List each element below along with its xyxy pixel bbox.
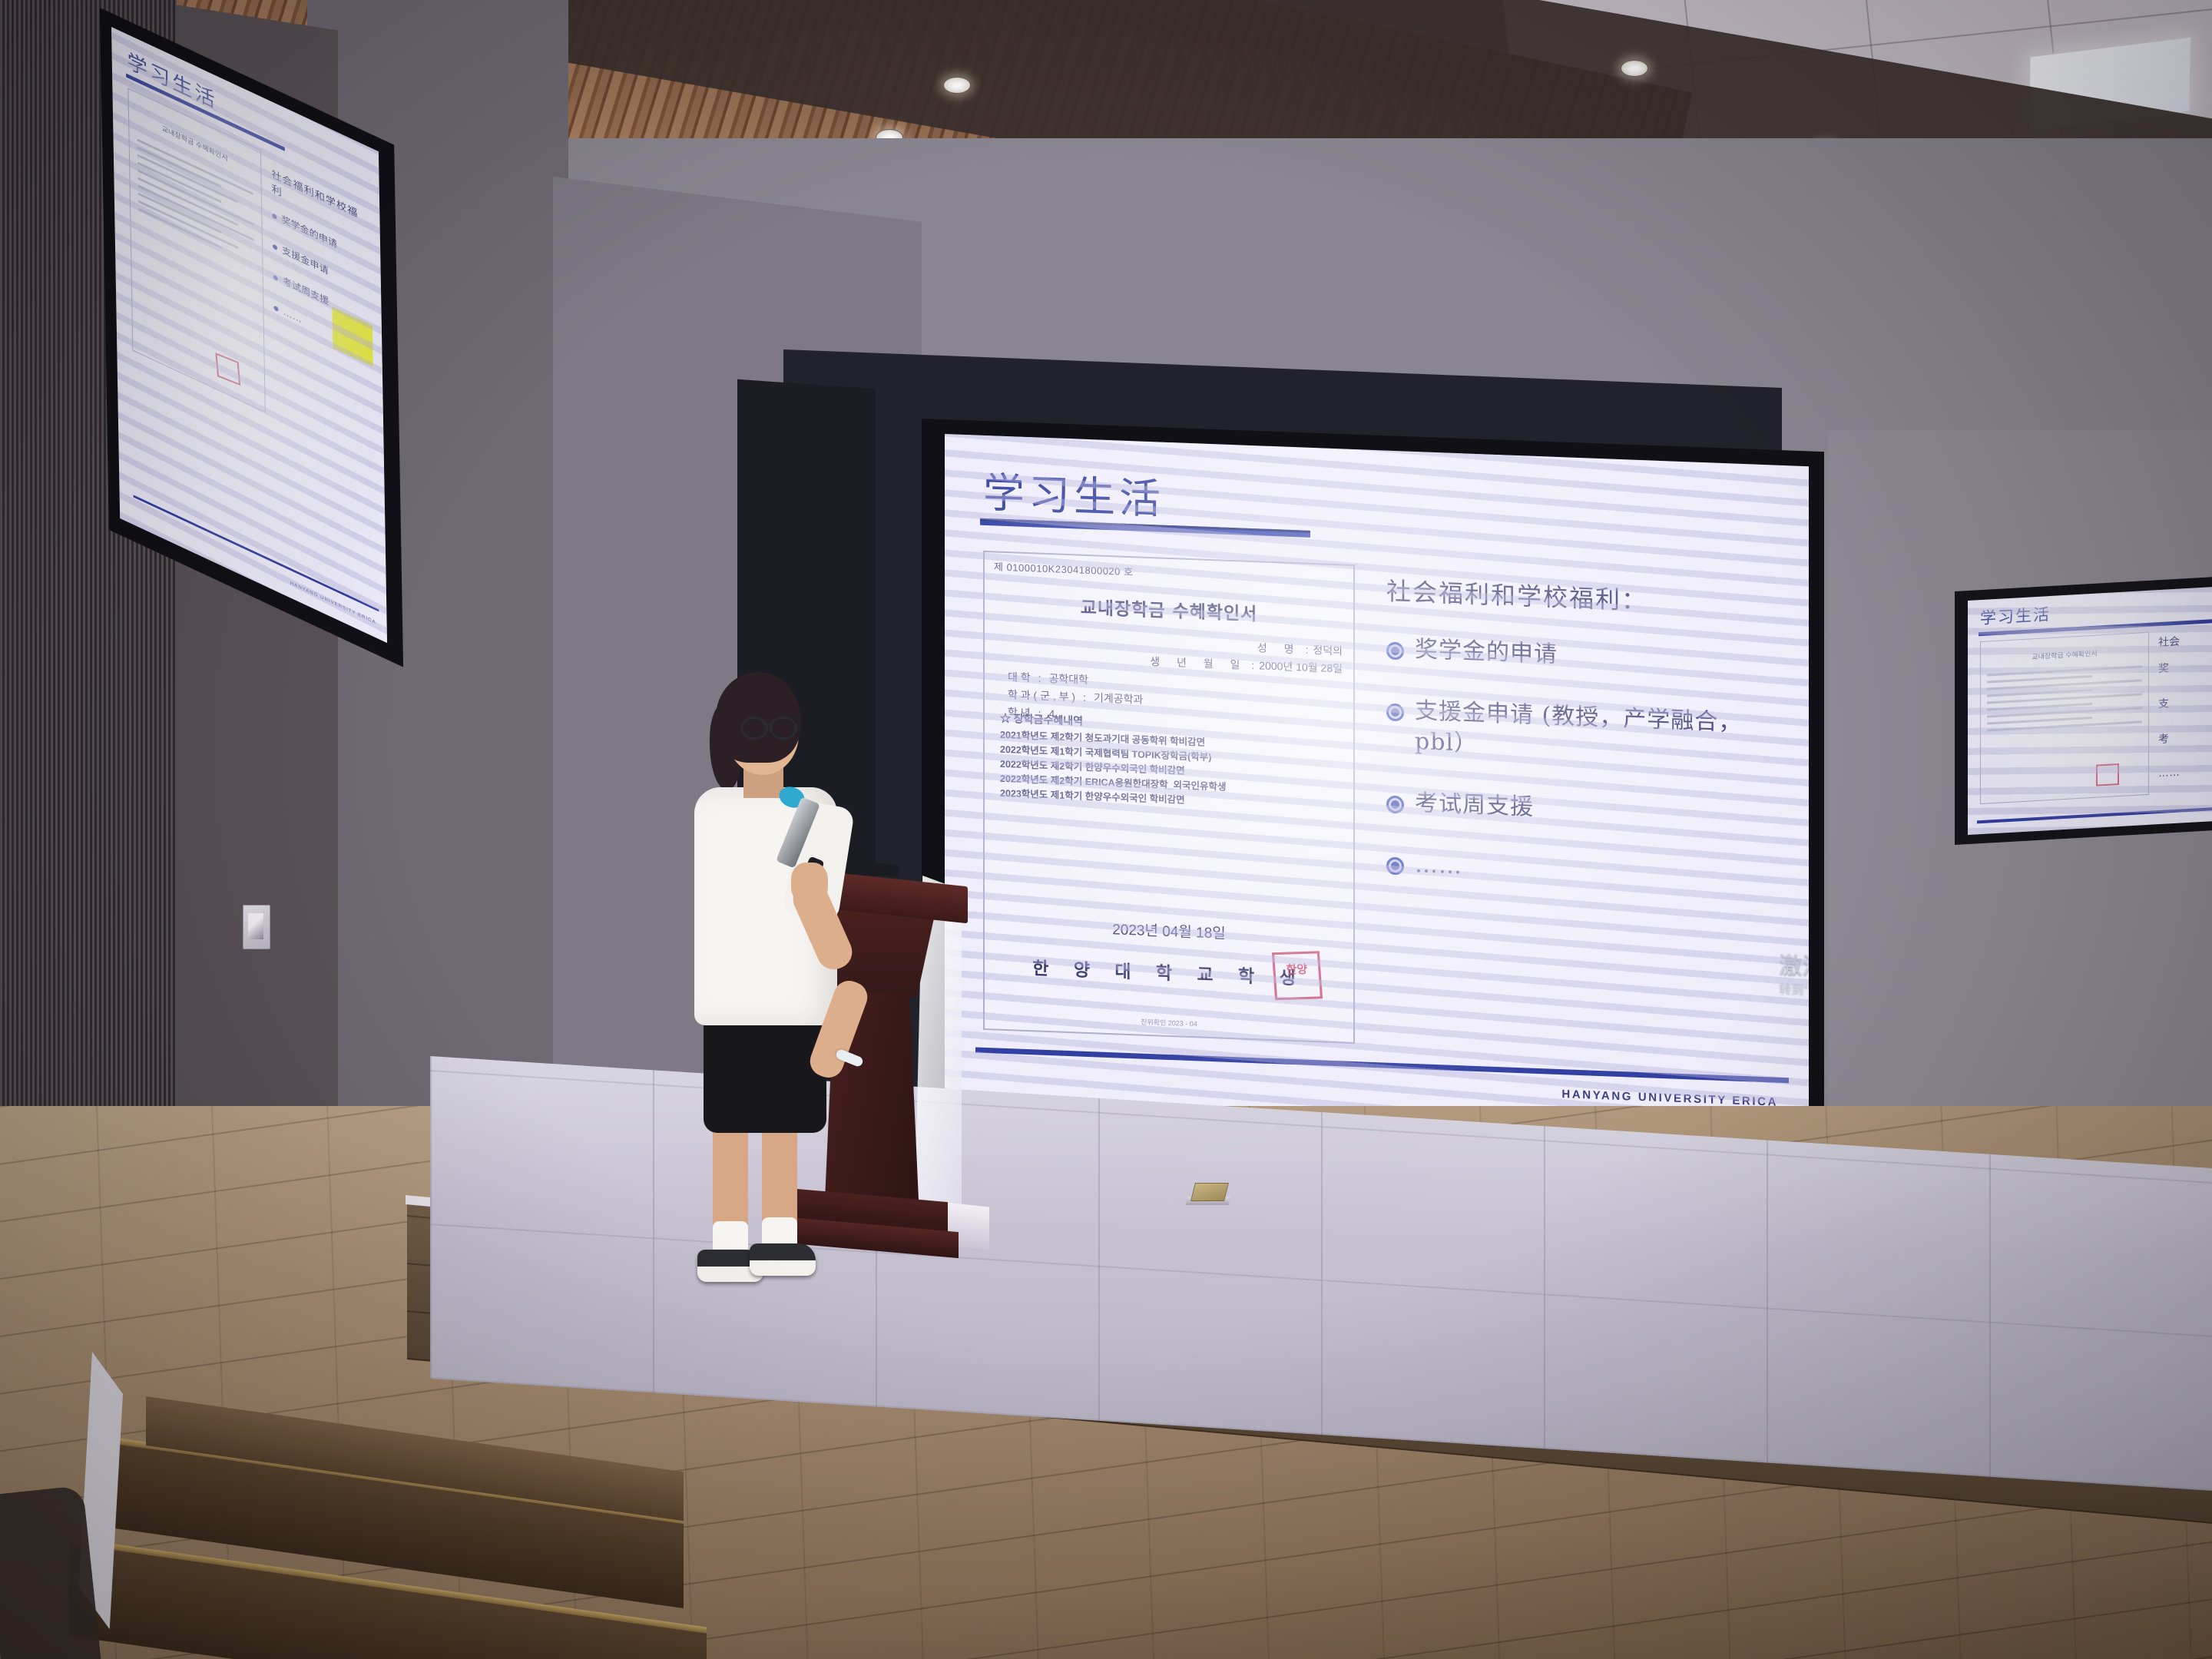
right-bullet-item: …… (2158, 763, 2212, 779)
bullet-dot-icon (1386, 642, 1404, 661)
doc-field-sep: : (1038, 670, 1041, 687)
lecture-hall-scene: 学习生活 교내장학금 수혜확인서 社会福利和学校福利 奖学金的申请 支援金申请 … (0, 0, 2212, 1659)
main-slide-title: 学习生活 (983, 459, 1164, 526)
bullet-item: 支援金申请 (教授，产学融合，pbl） (1386, 695, 1770, 771)
right-slide-title: 学习生活 (1980, 602, 2051, 629)
right-bullet-item: 考 (2158, 727, 2212, 747)
bullet-dot-icon (1386, 796, 1404, 814)
right-bullet-item: 奖 (2158, 657, 2212, 676)
main-display-screen[interactable]: 学习生活 제 0100010K23041800020 호 교내장학금 수혜확인서… (945, 434, 1809, 1128)
glasses-lens-right (770, 717, 797, 740)
right-bullet-list: 社会 奖 支 考 …… (2158, 631, 2212, 799)
glasses-icon (740, 717, 799, 735)
right-bullet-item: 支 (2158, 692, 2212, 711)
windows-activation-watermark: 激活 Windows 转到"设置"以激活 Windows。 (1779, 954, 1809, 1003)
ceiling-downlight-icon (1621, 60, 1648, 77)
right-footer-rule (1977, 807, 2212, 823)
doc-field-label: 성 명 (1257, 639, 1301, 658)
presenter-shoe-right (750, 1243, 816, 1276)
official-seal-icon: 한양 (1272, 951, 1323, 1000)
slide-footer-rule (975, 1048, 1789, 1084)
doc-award-list: 2021학년도 제2학기 청도과기대 공동학위 학비감면 2022학년도 제1학… (1000, 728, 1227, 810)
bullet-item: 考试周支援 (1386, 787, 1770, 833)
bullet-text: 支援金申请 (教授，产学融合，pbl） (1415, 696, 1770, 770)
presenter (676, 657, 906, 1240)
main-slide: 学习生活 제 0100010K23041800020 호 교내장학금 수혜확인서… (945, 434, 1809, 1128)
doc-field-label: 생 년 월 일 (1150, 653, 1247, 674)
bullet-text: …… (1415, 849, 1462, 882)
right-doc-title: 교내장학금 수혜확인서 (1981, 645, 2148, 664)
wall-outlet-icon[interactable] (243, 905, 270, 949)
right-doc-lines (1987, 665, 2142, 736)
doc-field-value: 공학대학 (1049, 670, 1089, 689)
doc-field-label: 대 학 (1008, 668, 1031, 687)
right-doc-box: 교내장학금 수혜확인서 (1980, 632, 2149, 804)
scholarship-certificate: 제 0100010K23041800020 호 교내장학금 수혜확인서 성 명 … (983, 551, 1355, 1044)
doc-issue-date: 2023년 04월 18일 (985, 913, 1353, 948)
left-doc-stamp-icon (215, 353, 240, 386)
doc-field-sep: : (1305, 641, 1308, 659)
doc-field-value: 2000년 10월 28일 (1259, 657, 1343, 677)
bullet-item: 奖学金的申请 (1386, 634, 1770, 679)
bullet-heading: 社会福利和学校福利： (1386, 572, 1770, 622)
doc-field-value: 정덕의 (1313, 641, 1343, 660)
doc-field-sep: : (1251, 657, 1254, 674)
right-display-screen[interactable]: 学习生活 교내장학금 수혜확인서 社会 奖 支 考 …… (1968, 587, 2212, 835)
doc-field-label: 학 과 ( 군 , 부 ) (1008, 686, 1075, 706)
doc-list-heading: ☆ 장학금수혜내역 (1000, 710, 1083, 729)
bullet-text: 奖学金的申请 (1415, 634, 1558, 671)
ceiling-downlight-icon (943, 77, 971, 94)
right-doc-stamp-icon (2096, 763, 2119, 786)
floor-outlet-box-icon[interactable] (1187, 1183, 1230, 1209)
doc-id-line: 제 0100010K23041800020 호 (994, 558, 1133, 578)
left-doc-box: 교내장학금 수혜확인서 (127, 88, 265, 412)
doc-title: 교내장학금 수혜확인서 (985, 589, 1353, 629)
bullet-item: …… (1386, 849, 1770, 894)
right-bullet-heading: 社会 (2158, 631, 2212, 650)
bullet-dot-icon (1386, 704, 1404, 722)
slide-bullet-column: 社会福利和学校福利： 奖学金的申请 支援金申请 (教授，产学融合，pbl） 考试… (1386, 572, 1770, 925)
doc-field-value: 기계공학과 (1094, 689, 1143, 708)
presenter-hand (791, 863, 828, 904)
doc-footer-note: 진위확인 2023 - 04 (985, 1011, 1353, 1035)
glasses-lens-left (740, 717, 768, 740)
bullet-text: 考试周支援 (1415, 788, 1534, 823)
watermark-line-2: 转到"设置"以激活 Windows。 (1779, 979, 1809, 1003)
bullet-dot-icon (1386, 857, 1404, 876)
floor-box-lid (1190, 1183, 1229, 1201)
doc-field-sep: : (1083, 689, 1086, 707)
presenter-leg-left (713, 1118, 748, 1233)
